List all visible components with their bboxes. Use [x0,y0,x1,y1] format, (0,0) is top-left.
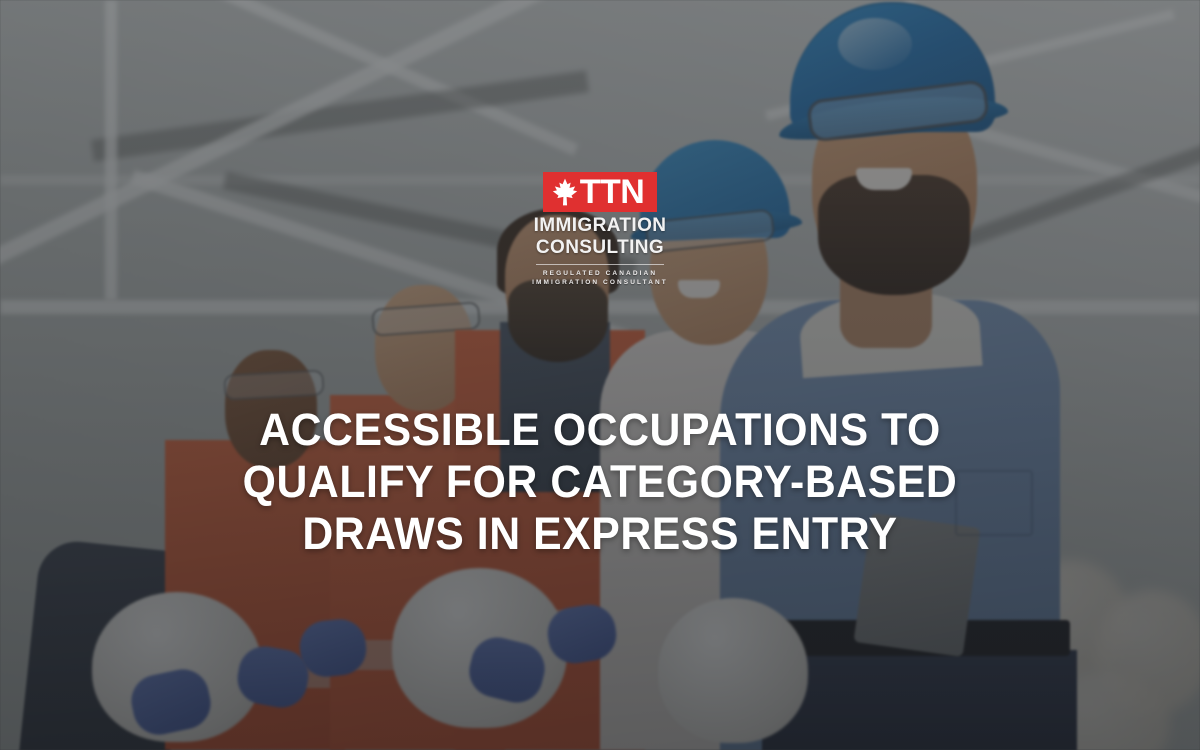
hero-banner: TTN IMMIGRATION CONSULTING REGULATED CAN… [0,0,1200,750]
headline-line-2: QUALIFY FOR CATEGORY-BASED [116,456,1085,508]
logo-line-1: IMMIGRATION [520,215,680,237]
logo-tagline-line-1: REGULATED CANADIAN [520,269,680,278]
maple-leaf-icon [552,177,578,207]
logo-ttn-text: TTN [580,176,645,208]
logo-mark: TTN [543,172,657,212]
headline-line-1: ACCESSIBLE OCCUPATIONS TO [116,404,1085,456]
logo-line-2: CONSULTING [520,237,680,259]
dark-overlay [0,0,1200,750]
headline-line-3: DRAWS IN EXPRESS ENTRY [116,508,1085,560]
banner-headline: ACCESSIBLE OCCUPATIONS TO QUALIFY FOR CA… [0,404,1200,560]
logo-tagline-line-2: IMMIGRATION CONSULTANT [520,278,680,287]
logo-divider [536,264,664,265]
ttn-logo[interactable]: TTN IMMIGRATION CONSULTING REGULATED CAN… [520,172,680,287]
